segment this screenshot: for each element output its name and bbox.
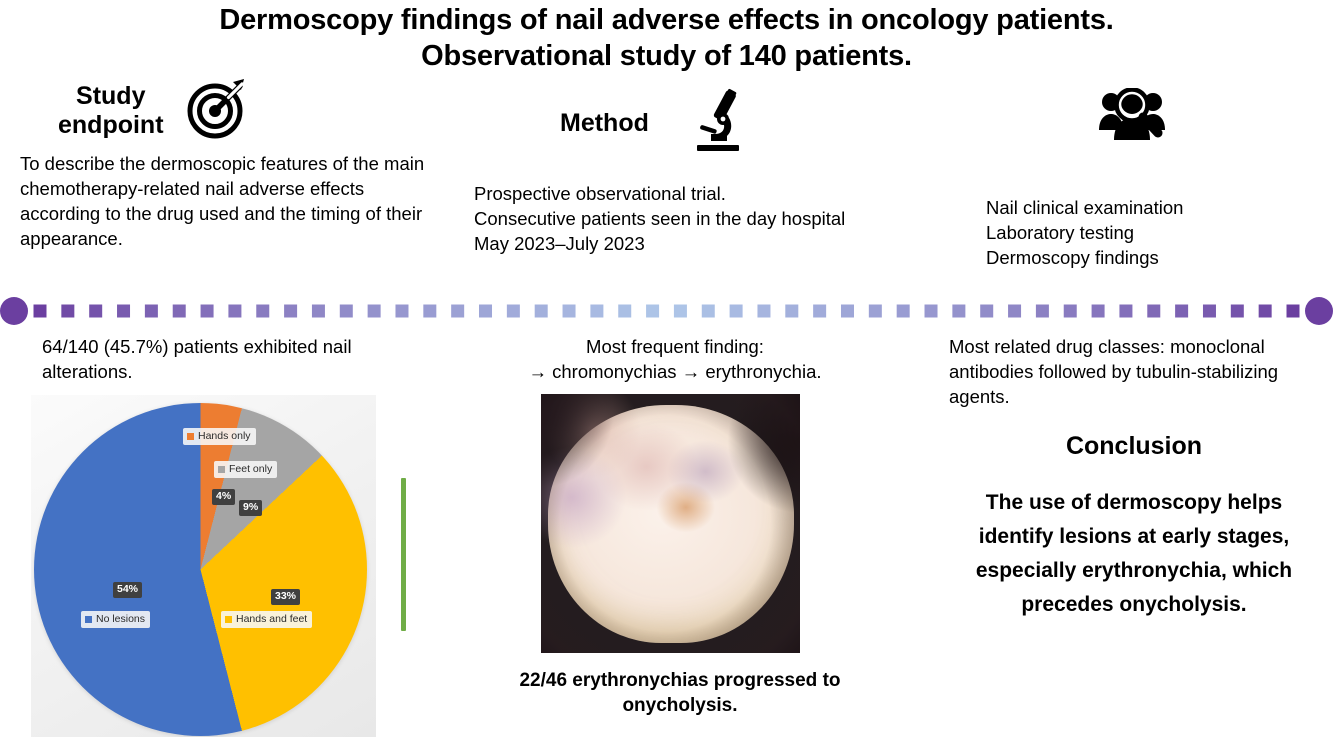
divider-dot — [1092, 305, 1105, 318]
pie-chart-figure: 4% 9% 33% 54% Hands only Feet only Hands… — [31, 395, 376, 737]
divider-dot — [563, 305, 576, 318]
divider-dot — [925, 305, 938, 318]
divider-dot — [618, 305, 631, 318]
dotted-gradient-divider — [0, 295, 1333, 327]
page-title: Dermoscopy findings of nail adverse effe… — [0, 2, 1333, 74]
pie-chart-disc — [34, 403, 367, 736]
microscope-icon — [689, 88, 745, 159]
section-assessment: Nail clinical examination Laboratory tes… — [905, 88, 1325, 270]
divider-dot — [423, 305, 436, 318]
pie-value-hands-and-feet: 33% — [271, 589, 300, 605]
divider-dot — [312, 305, 325, 318]
photo-vignette-overlay — [541, 394, 800, 653]
divider-dot — [61, 305, 74, 318]
divider-dot — [284, 305, 297, 318]
pie-label-feet-only: Feet only — [229, 463, 272, 475]
divider-dot — [479, 305, 492, 318]
assessment-body: Nail clinical examination Laboratory tes… — [905, 195, 1325, 270]
divider-dot — [1064, 305, 1077, 318]
drug-classes-text: Most related drug classes: monoclonal an… — [949, 334, 1333, 409]
pie-swatch-hands-and-feet — [225, 616, 232, 623]
patient-examination-icon — [1097, 88, 1167, 151]
photo-caption: 22/46 erythronychias progressed to onych… — [490, 668, 870, 718]
divider-dot — [507, 305, 520, 318]
divider-dot — [1119, 305, 1132, 318]
divider-dot — [897, 305, 910, 318]
divider-dot — [1175, 305, 1188, 318]
divider-dot — [590, 305, 603, 318]
title-line-1: Dermoscopy findings of nail adverse effe… — [0, 2, 1333, 38]
divider-dot — [702, 305, 715, 318]
pie-label-hands-only: Hands only — [198, 430, 251, 442]
finding-text: Most frequent finding: → chromonychias →… — [455, 334, 895, 384]
divider-dot — [813, 305, 826, 318]
divider-dot — [201, 305, 214, 318]
divider-dot — [1287, 305, 1300, 318]
divider-dot — [89, 305, 102, 318]
divider-dot — [117, 305, 130, 318]
divider-dot — [368, 305, 381, 318]
assessment-header — [905, 88, 1325, 151]
divider-dot — [1147, 305, 1160, 318]
section-method: Method Prospective observational trial. … — [455, 88, 895, 256]
divider-dot — [785, 305, 798, 318]
divider-dot — [145, 305, 158, 318]
section-findings: Most frequent finding: → chromonychias →… — [455, 334, 895, 384]
divider-dot — [1203, 305, 1216, 318]
divider-dot — [451, 305, 464, 318]
divider-dot — [646, 305, 659, 318]
divider-dot — [395, 305, 408, 318]
divider-dot — [841, 305, 854, 318]
divider-dot — [1036, 305, 1049, 318]
pie-swatch-no-lesions — [85, 616, 92, 623]
divider-end-dot — [0, 297, 28, 325]
conclusion-heading: Conclusion — [949, 432, 1333, 461]
pie-swatch-feet-only — [218, 466, 225, 473]
green-accent-bar — [401, 478, 406, 631]
pie-value-feet-only: 9% — [239, 500, 262, 516]
pie-label-hands-and-feet: Hands and feet — [236, 613, 307, 625]
divider-dot — [228, 305, 241, 318]
prevalence-text: 64/140 (45.7%) patients exhibited nail a… — [42, 334, 442, 384]
pie-label-no-lesions: No lesions — [96, 613, 145, 625]
method-header: Method — [455, 88, 895, 159]
pie-value-no-lesions: 54% — [113, 582, 142, 598]
method-body: Prospective observational trial. Consecu… — [455, 181, 895, 256]
pie-value-hands-only: 4% — [212, 489, 235, 505]
pie-swatch-hands-only — [187, 433, 194, 440]
title-line-2: Observational study of 140 patients. — [0, 38, 1333, 74]
study-endpoint-heading: Study endpoint — [58, 82, 164, 140]
divider-dot — [1231, 305, 1244, 318]
study-endpoint-body: To describe the dermoscopic features of … — [10, 151, 428, 251]
section-prevalence: 64/140 (45.7%) patients exhibited nail a… — [42, 334, 442, 384]
divider-dot — [340, 305, 353, 318]
divider-dot — [952, 305, 965, 318]
divider-dot — [674, 305, 687, 318]
section-conclusion: Most related drug classes: monoclonal an… — [949, 334, 1333, 622]
divider-dot — [869, 305, 882, 318]
method-heading: Method — [560, 109, 649, 138]
section-study-endpoint: Study endpoint To describe the dermoscop… — [10, 76, 428, 251]
divider-dot — [730, 305, 743, 318]
divider-dot — [34, 305, 47, 318]
divider-dot — [535, 305, 548, 318]
divider-dot — [256, 305, 269, 318]
target-icon — [186, 76, 250, 145]
divider-dot — [1008, 305, 1021, 318]
conclusion-body: The use of dermoscopy helps identify les… — [949, 486, 1333, 622]
divider-dot — [980, 305, 993, 318]
divider-dot — [1259, 305, 1272, 318]
divider-dot — [173, 305, 186, 318]
divider-end-dot — [1305, 297, 1333, 325]
dermoscopy-nail-photo — [541, 394, 800, 653]
study-endpoint-header: Study endpoint — [10, 76, 428, 145]
divider-dot — [757, 305, 770, 318]
